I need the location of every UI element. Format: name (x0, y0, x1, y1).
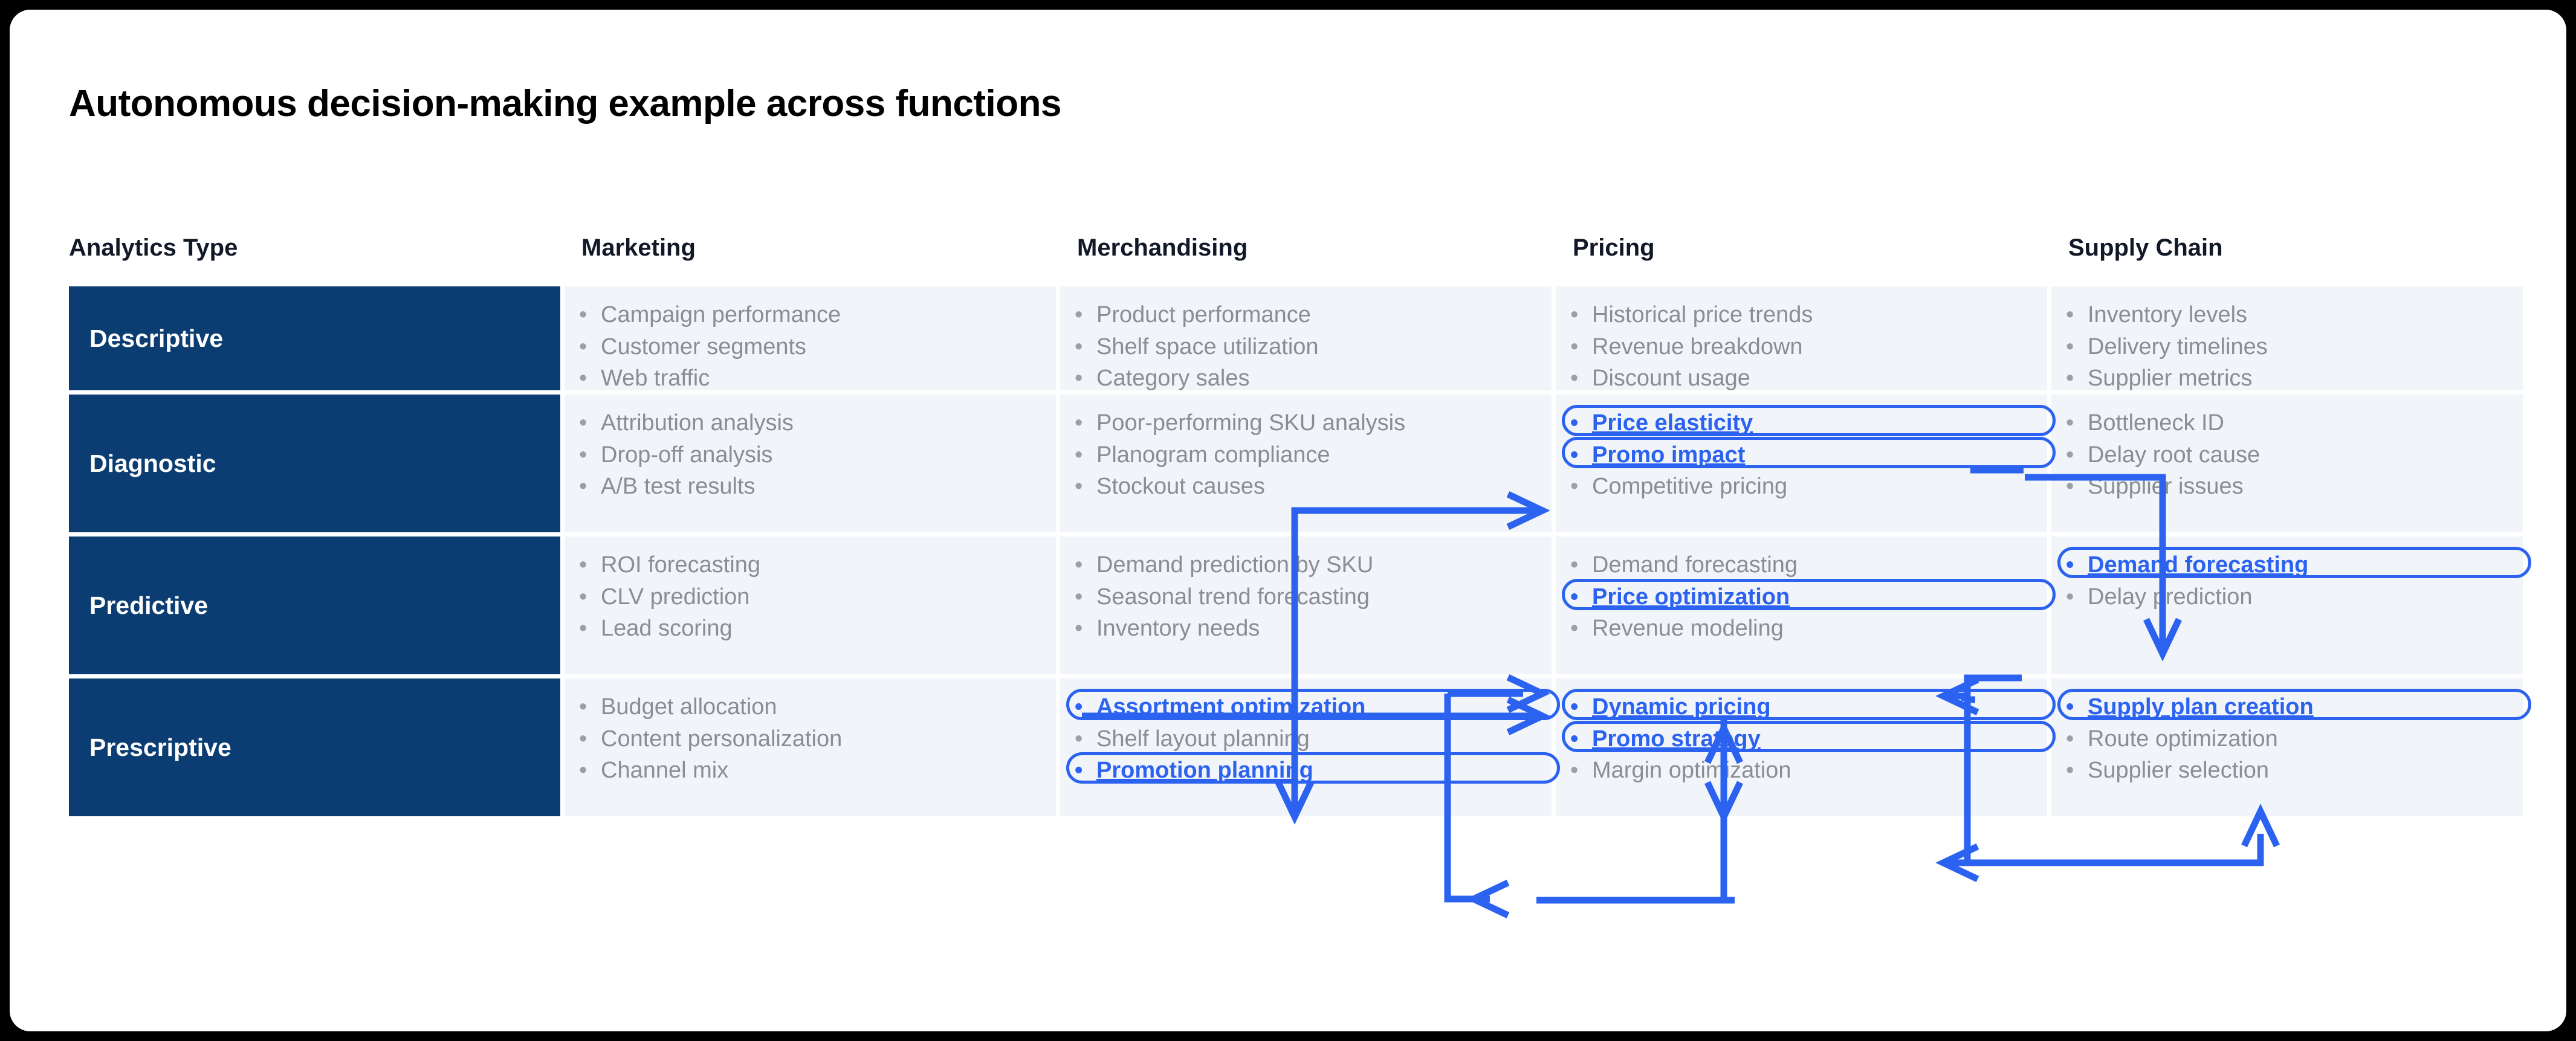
bullet-dot-icon: • (1570, 363, 1586, 394)
list-item: •Supplier selection (2066, 755, 2507, 786)
list-item-label: Inventory levels (2088, 300, 2507, 330)
table-cell: •Campaign performance•Customer segments•… (565, 286, 1056, 390)
list-item-label: Supplier metrics (2088, 363, 2507, 394)
list-item-label: Planogram compliance (1096, 440, 1536, 471)
bullet-dot-icon: • (2066, 692, 2082, 723)
list-item-label: Revenue modeling (1592, 613, 2031, 644)
bullet-dot-icon: • (579, 550, 595, 581)
list-item: •Product performance (1075, 300, 1536, 330)
highlighted-list-item[interactable]: •Demand forecasting (2066, 550, 2507, 581)
list-item: •Stockout causes (1075, 471, 1536, 502)
table-cell: •Historical price trends•Revenue breakdo… (1556, 286, 2047, 390)
list-item-label: Price elasticity (1592, 408, 2031, 439)
table-cell: •Assortment optimization•Shelf layout pl… (1060, 678, 1552, 816)
list-item-label: Delay prediction (2088, 582, 2507, 613)
bullet-dot-icon: • (1075, 582, 1090, 613)
list-item: •Content personalization (579, 724, 1040, 755)
row-label-predictive: Predictive (69, 537, 560, 674)
list-item: •Channel mix (579, 755, 1040, 786)
column-header-marketing: Marketing (565, 234, 1060, 262)
table-row: Diagnostic•Attribution analysis•Drop-off… (69, 395, 2523, 532)
bullet-dot-icon: • (579, 471, 595, 502)
list-item-label: Promotion planning (1096, 755, 1536, 786)
bullet-list: •Dynamic pricing•Promo strategy•Margin o… (1570, 692, 2031, 786)
slide-card: Autonomous decision-making example acros… (10, 10, 2566, 1031)
column-header-pricing: Pricing (1556, 234, 2051, 262)
list-item-label: Budget allocation (601, 692, 1040, 723)
bullet-list: •Supply plan creation•Route optimization… (2066, 692, 2507, 786)
bullet-list: •Assortment optimization•Shelf layout pl… (1075, 692, 1536, 786)
bullet-dot-icon: • (1570, 332, 1586, 363)
highlighted-list-item[interactable]: •Price elasticity (1570, 408, 2031, 439)
bullet-dot-icon: • (1570, 613, 1586, 644)
highlighted-list-item[interactable]: •Promo strategy (1570, 724, 2031, 755)
bullet-list: •Inventory levels•Delivery timelines•Sup… (2066, 300, 2507, 394)
bullet-dot-icon: • (1570, 692, 1586, 723)
list-item: •Route optimization (2066, 724, 2507, 755)
bullet-dot-icon: • (579, 408, 595, 439)
list-item-label: Campaign performance (601, 300, 1040, 330)
list-item: •Budget allocation (579, 692, 1040, 723)
bullet-dot-icon: • (579, 332, 595, 363)
table-cell: •Poor-performing SKU analysis•Planogram … (1060, 395, 1552, 532)
bullet-list: •Historical price trends•Revenue breakdo… (1570, 300, 2031, 394)
list-item: •Revenue modeling (1570, 613, 2031, 644)
bullet-dot-icon: • (1570, 755, 1586, 786)
row-label-descriptive: Descriptive (69, 286, 560, 390)
list-item: •Competitive pricing (1570, 471, 2031, 502)
list-item: •Demand prediction by SKU (1075, 550, 1536, 581)
bullet-list: •Bottleneck ID•Delay root cause•Supplier… (2066, 408, 2507, 502)
list-item-label: Shelf layout planning (1096, 724, 1536, 755)
list-item-label: Attribution analysis (601, 408, 1040, 439)
list-item: •Delay prediction (2066, 582, 2507, 613)
table-cell: •Demand prediction by SKU•Seasonal trend… (1060, 537, 1552, 674)
table-cell: •Demand forecasting•Delay prediction (2051, 537, 2523, 674)
list-item-label: Bottleneck ID (2088, 408, 2507, 439)
table-cell: •Attribution analysis•Drop-off analysis•… (565, 395, 1056, 532)
list-item: •Delivery timelines (2066, 332, 2507, 363)
list-item-label: Lead scoring (601, 613, 1040, 644)
highlighted-list-item[interactable]: •Assortment optimization (1075, 692, 1536, 723)
bullet-dot-icon: • (1570, 550, 1586, 581)
list-item-label: Competitive pricing (1592, 471, 2031, 502)
table-body: Descriptive•Campaign performance•Custome… (69, 286, 2523, 816)
bullet-dot-icon: • (579, 755, 595, 786)
list-item-label: Drop-off analysis (601, 440, 1040, 471)
bullet-dot-icon: • (2066, 550, 2082, 581)
list-item-label: Assortment optimization (1096, 692, 1536, 723)
list-item-label: Demand forecasting (2088, 550, 2507, 581)
list-item-label: Seasonal trend forecasting (1096, 582, 1536, 613)
bullet-dot-icon: • (1570, 724, 1586, 755)
list-item-label: Category sales (1096, 363, 1536, 394)
list-item-label: Historical price trends (1592, 300, 2031, 330)
bullet-dot-icon: • (1075, 440, 1090, 471)
bullet-dot-icon: • (2066, 332, 2082, 363)
column-header-analytics-type: Analytics Type (69, 234, 565, 262)
bullet-dot-icon: • (2066, 582, 2082, 613)
bullet-dot-icon: • (1570, 582, 1586, 613)
list-item: •Inventory levels (2066, 300, 2507, 330)
bullet-dot-icon: • (1075, 408, 1090, 439)
list-item-label: Price optimization (1592, 582, 2031, 613)
bullet-list: •Poor-performing SKU analysis•Planogram … (1075, 408, 1536, 502)
list-item: •Historical price trends (1570, 300, 2031, 330)
bullet-list: •Price elasticity•Promo impact•Competiti… (1570, 408, 2031, 502)
list-item: •CLV prediction (579, 582, 1040, 613)
list-item: •Supplier metrics (2066, 363, 2507, 394)
list-item-label: Customer segments (601, 332, 1040, 363)
list-item: •Planogram compliance (1075, 440, 1536, 471)
list-item-label: Delivery timelines (2088, 332, 2507, 363)
list-item: •Lead scoring (579, 613, 1040, 644)
bullet-list: •Demand forecasting•Price optimization•R… (1570, 550, 2031, 644)
table-cell: •Inventory levels•Delivery timelines•Sup… (2051, 286, 2523, 390)
bullet-dot-icon: • (579, 440, 595, 471)
list-item-label: Revenue breakdown (1592, 332, 2031, 363)
list-item: •A/B test results (579, 471, 1040, 502)
list-item: •Delay root cause (2066, 440, 2507, 471)
highlighted-list-item[interactable]: •Price optimization (1570, 582, 2031, 613)
row-label-diagnostic: Diagnostic (69, 395, 560, 532)
highlighted-list-item[interactable]: •Supply plan creation (2066, 692, 2507, 723)
list-item-label: Demand prediction by SKU (1096, 550, 1536, 581)
bullet-list: •ROI forecasting•CLV prediction•Lead sco… (579, 550, 1040, 644)
list-item-label: A/B test results (601, 471, 1040, 502)
bullet-dot-icon: • (2066, 755, 2082, 786)
list-item: •Poor-performing SKU analysis (1075, 408, 1536, 439)
list-item-label: Supplier issues (2088, 471, 2507, 502)
bullet-dot-icon: • (1075, 300, 1090, 330)
bullet-dot-icon: • (1075, 613, 1090, 644)
bullet-dot-icon: • (1075, 471, 1090, 502)
table-row: Predictive•ROI forecasting•CLV predictio… (69, 537, 2523, 674)
list-item: •Campaign performance (579, 300, 1040, 330)
list-item-label: Dynamic pricing (1592, 692, 2031, 723)
list-item-label: Product performance (1096, 300, 1536, 330)
column-header-merchandising: Merchandising (1060, 234, 1556, 262)
list-item: •Web traffic (579, 363, 1040, 394)
bullet-list: •Attribution analysis•Drop-off analysis•… (579, 408, 1040, 502)
bullet-dot-icon: • (2066, 724, 2082, 755)
list-item-label: Poor-performing SKU analysis (1096, 408, 1536, 439)
table-cell: •Bottleneck ID•Delay root cause•Supplier… (2051, 395, 2523, 532)
bullet-dot-icon: • (579, 724, 595, 755)
list-item-label: ROI forecasting (601, 550, 1040, 581)
table-cell: •Product performance•Shelf space utiliza… (1060, 286, 1552, 390)
list-item-label: Route optimization (2088, 724, 2507, 755)
bullet-dot-icon: • (1075, 724, 1090, 755)
table-row: Descriptive•Campaign performance•Custome… (69, 286, 2523, 390)
list-item-label: Supply plan creation (2088, 692, 2507, 723)
list-item-label: Discount usage (1592, 363, 2031, 394)
list-item: •Supplier issues (2066, 471, 2507, 502)
table-cell: •Dynamic pricing•Promo strategy•Margin o… (1556, 678, 2047, 816)
highlighted-list-item[interactable]: •Promo impact (1570, 440, 2031, 471)
bullet-dot-icon: • (579, 692, 595, 723)
bullet-list: •Demand prediction by SKU•Seasonal trend… (1075, 550, 1536, 644)
bullet-dot-icon: • (1570, 408, 1586, 439)
list-item-label: CLV prediction (601, 582, 1040, 613)
list-item: •Customer segments (579, 332, 1040, 363)
bullet-dot-icon: • (2066, 300, 2082, 330)
bullet-dot-icon: • (1075, 363, 1090, 394)
list-item-label: Margin optimization (1592, 755, 2031, 786)
bullet-dot-icon: • (1075, 550, 1090, 581)
table-cell: •Supply plan creation•Route optimization… (2051, 678, 2523, 816)
list-item: •Attribution analysis (579, 408, 1040, 439)
bullet-list: •Product performance•Shelf space utiliza… (1075, 300, 1536, 394)
page-title: Autonomous decision-making example acros… (69, 82, 1061, 125)
list-item-label: Delay root cause (2088, 440, 2507, 471)
list-item: •Drop-off analysis (579, 440, 1040, 471)
table-header-row: Analytics Type Marketing Merchandising P… (69, 209, 2523, 286)
bullet-list: •Campaign performance•Customer segments•… (579, 300, 1040, 394)
list-item-label: Promo strategy (1592, 724, 2031, 755)
table-cell: •Budget allocation•Content personalizati… (565, 678, 1056, 816)
matrix-table: Analytics Type Marketing Merchandising P… (69, 209, 2523, 820)
bullet-dot-icon: • (579, 582, 595, 613)
list-item-label: Shelf space utilization (1096, 332, 1536, 363)
bullet-dot-icon: • (1570, 440, 1586, 471)
bullet-dot-icon: • (579, 613, 595, 644)
list-item: •Inventory needs (1075, 613, 1536, 644)
list-item: •Shelf space utilization (1075, 332, 1536, 363)
list-item: •Bottleneck ID (2066, 408, 2507, 439)
bullet-dot-icon: • (1075, 692, 1090, 723)
list-item: •Seasonal trend forecasting (1075, 582, 1536, 613)
table-cell: •Demand forecasting•Price optimization•R… (1556, 537, 2047, 674)
bullet-dot-icon: • (2066, 440, 2082, 471)
list-item-label: Stockout causes (1096, 471, 1536, 502)
highlighted-list-item[interactable]: •Dynamic pricing (1570, 692, 2031, 723)
column-header-supply-chain: Supply Chain (2051, 234, 2523, 262)
bullet-list: •Demand forecasting•Delay prediction (2066, 550, 2507, 612)
list-item: •Category sales (1075, 363, 1536, 394)
bullet-dot-icon: • (2066, 471, 2082, 502)
bullet-dot-icon: • (2066, 408, 2082, 439)
bullet-list: •Budget allocation•Content personalizati… (579, 692, 1040, 786)
list-item-label: Promo impact (1592, 440, 2031, 471)
list-item: •Revenue breakdown (1570, 332, 2031, 363)
highlighted-list-item[interactable]: •Promotion planning (1075, 755, 1536, 786)
list-item: •Discount usage (1570, 363, 2031, 394)
list-item-label: Web traffic (601, 363, 1040, 394)
bullet-dot-icon: • (1075, 755, 1090, 786)
list-item: •Shelf layout planning (1075, 724, 1536, 755)
table-row: Prescriptive•Budget allocation•Content p… (69, 678, 2523, 816)
bullet-dot-icon: • (1570, 471, 1586, 502)
list-item: •Margin optimization (1570, 755, 2031, 786)
list-item-label: Content personalization (601, 724, 1040, 755)
table-cell: •Price elasticity•Promo impact•Competiti… (1556, 395, 2047, 532)
list-item-label: Channel mix (601, 755, 1040, 786)
list-item: •ROI forecasting (579, 550, 1040, 581)
list-item: •Demand forecasting (1570, 550, 2031, 581)
bullet-dot-icon: • (2066, 363, 2082, 394)
bullet-dot-icon: • (1075, 332, 1090, 363)
list-item-label: Demand forecasting (1592, 550, 2031, 581)
bullet-dot-icon: • (579, 300, 595, 330)
table-cell: •ROI forecasting•CLV prediction•Lead sco… (565, 537, 1056, 674)
list-item-label: Supplier selection (2088, 755, 2507, 786)
row-label-prescriptive: Prescriptive (69, 678, 560, 816)
list-item-label: Inventory needs (1096, 613, 1536, 644)
bullet-dot-icon: • (1570, 300, 1586, 330)
bullet-dot-icon: • (579, 363, 595, 394)
